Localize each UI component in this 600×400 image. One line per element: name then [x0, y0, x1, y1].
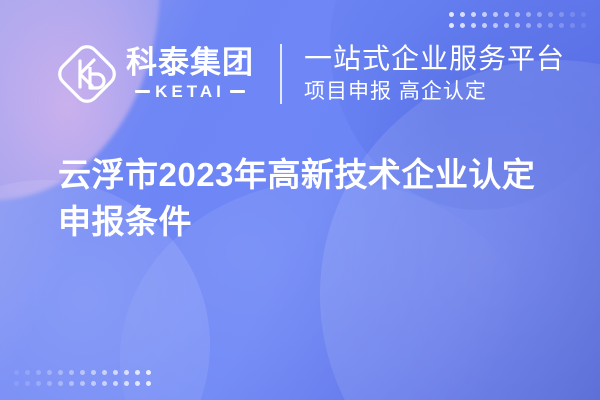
- dot: [135, 370, 140, 375]
- dot: [559, 23, 564, 28]
- dot: [559, 12, 564, 17]
- dot: [548, 12, 553, 17]
- dot: [482, 12, 487, 17]
- brand-wordmark: 科泰集团 KETAI: [126, 47, 254, 100]
- dot: [526, 23, 531, 28]
- dot: [526, 12, 531, 17]
- dot: [146, 370, 151, 375]
- dot: [504, 23, 509, 28]
- dot: [581, 23, 586, 28]
- dot: [69, 370, 74, 375]
- dot: [471, 12, 476, 17]
- dot: [515, 23, 520, 28]
- dot: [58, 370, 63, 375]
- dash-left-icon: [135, 90, 150, 93]
- brand-logo: 科泰集团 KETAI: [56, 43, 254, 105]
- dot-row: [449, 12, 586, 17]
- dot: [113, 381, 118, 386]
- dot: [135, 381, 140, 386]
- dot-grid-bottom-left: [14, 370, 151, 386]
- dot: [570, 12, 575, 17]
- brand-name-cn: 科泰集团: [126, 47, 254, 80]
- dot: [537, 23, 542, 28]
- dot: [460, 23, 465, 28]
- dot: [482, 23, 487, 28]
- dot: [581, 12, 586, 17]
- dot: [493, 23, 498, 28]
- dot: [113, 370, 118, 375]
- dot: [146, 381, 151, 386]
- ketai-diamond-kp-logo-icon: [56, 43, 118, 105]
- dot: [69, 381, 74, 386]
- dot-row: [449, 23, 586, 28]
- header-divider: [280, 44, 282, 104]
- dot: [460, 12, 465, 17]
- dot: [548, 23, 553, 28]
- dot: [449, 23, 454, 28]
- dot: [25, 381, 30, 386]
- dot: [25, 370, 30, 375]
- dot: [14, 370, 19, 375]
- brand-name-latin-row: KETAI: [135, 83, 245, 100]
- page-title: 云浮市2023年高新技术企业认定申报条件: [58, 152, 558, 246]
- dot: [102, 370, 107, 375]
- brand-name-latin: KETAI: [155, 83, 225, 100]
- dot: [80, 370, 85, 375]
- dot: [124, 381, 129, 386]
- dot: [504, 12, 509, 17]
- dot: [537, 12, 542, 17]
- dot: [102, 381, 107, 386]
- dot: [47, 381, 52, 386]
- banner-header: 科泰集团 KETAI 一站式企业服务平台 项目申报 高企认定: [56, 42, 565, 105]
- dot: [91, 370, 96, 375]
- dot: [58, 381, 63, 386]
- slogan-primary: 一站式企业服务平台: [304, 42, 565, 75]
- dot: [493, 12, 498, 17]
- dot: [124, 370, 129, 375]
- dot-row: [14, 370, 151, 375]
- slogan-secondary: 项目申报 高企认定: [304, 79, 565, 105]
- dash-right-icon: [230, 90, 245, 93]
- dot: [80, 381, 85, 386]
- dot: [449, 12, 454, 17]
- dot: [91, 381, 96, 386]
- dot: [570, 23, 575, 28]
- dot-grid-top-right: [449, 12, 586, 28]
- dot: [47, 370, 52, 375]
- dot: [471, 23, 476, 28]
- dot: [36, 381, 41, 386]
- slogan-block: 一站式企业服务平台 项目申报 高企认定: [304, 42, 565, 105]
- dot-row: [14, 381, 151, 386]
- dot: [36, 370, 41, 375]
- promo-banner: 科泰集团 KETAI 一站式企业服务平台 项目申报 高企认定 云浮市2023年高…: [0, 0, 600, 400]
- dot: [14, 381, 19, 386]
- dot: [515, 12, 520, 17]
